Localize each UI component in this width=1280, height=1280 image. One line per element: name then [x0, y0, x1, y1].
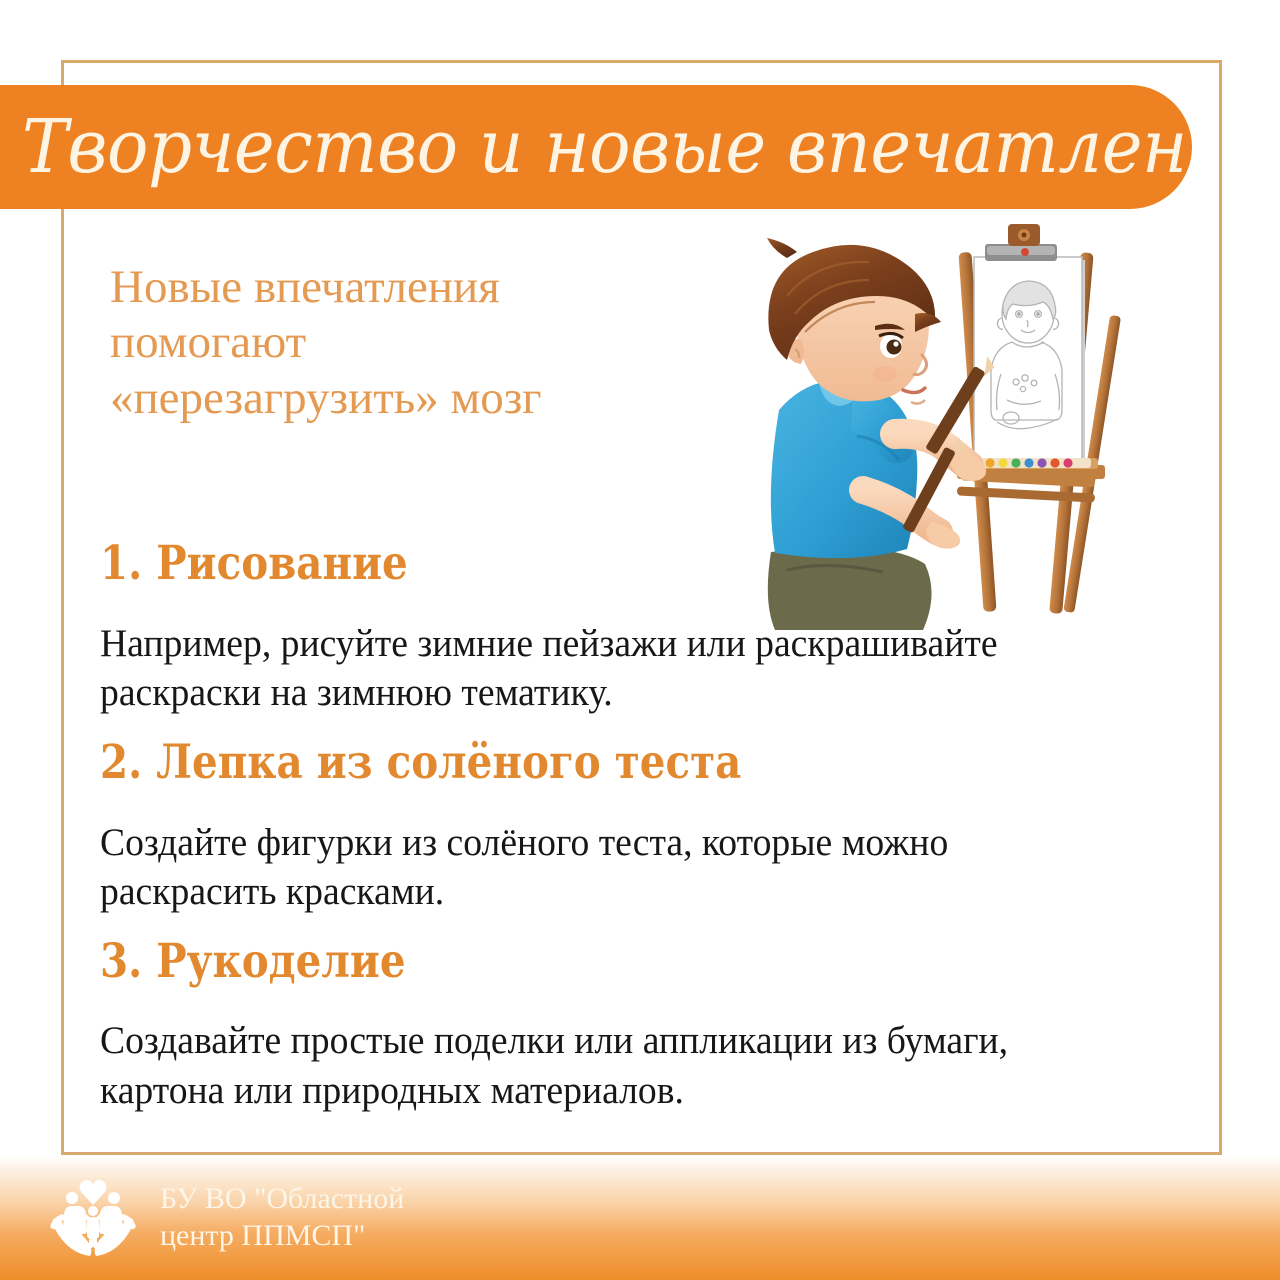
footer-org-line-2: центр ППМСП" — [160, 1218, 404, 1255]
page-title: Творчество и новые впечатления — [22, 110, 1192, 184]
footer-org-line-1: БУ ВО "Областной — [160, 1181, 404, 1218]
section-2-heading: 2. Лепка из солёного теста — [100, 737, 1059, 790]
section-1-body-line-1: Например, рисуйте зимние пейзажи или рас… — [100, 619, 1176, 668]
subtitle-line-3: «перезагрузить» мозг — [110, 371, 710, 426]
section-2: 2. Лепка из солёного теста Создайте фигу… — [100, 737, 1215, 916]
footer-organization-name: БУ ВО "Областной центр ППМСП" — [160, 1181, 404, 1254]
paint-palette — [967, 458, 1091, 468]
poster-canvas: Творчество и новые впечатления Новые впе… — [0, 0, 1280, 1280]
section-1: 1. Рисование Например, рисуйте зимние пе… — [100, 538, 1215, 717]
section-1-body-line-2: раскраски на зимнюю тематику. — [100, 668, 1176, 717]
section-3-body-line-1: Создавайте простые поделки или аппликаци… — [100, 1016, 1176, 1065]
section-1-body: Например, рисуйте зимние пейзажи или рас… — [100, 619, 1176, 717]
section-3-body: Создавайте простые поделки или аппликаци… — [100, 1016, 1176, 1114]
section-2-body: Создайте фигурки из солёного теста, кото… — [100, 818, 1176, 916]
content-sections: 1. Рисование Например, рисуйте зимние пе… — [100, 538, 1215, 1121]
subtitle-line-2: помогают — [110, 315, 710, 370]
subtitle-line-1: Новые впечатления — [110, 260, 710, 315]
section-3: 3. Рукоделие Создавайте простые поделки … — [100, 936, 1215, 1115]
subtitle-block: Новые впечатления помогают «перезагрузит… — [110, 260, 710, 426]
section-2-body-line-1: Создайте фигурки из солёного теста, кото… — [100, 818, 1176, 867]
section-1-heading: 1. Рисование — [100, 538, 1059, 591]
canvas-clip — [985, 224, 1057, 261]
footer-bar: БУ ВО "Областной центр ППМСП" — [0, 1155, 1280, 1280]
section-3-heading: 3. Рукоделие — [100, 936, 1059, 989]
title-banner: Творчество и новые впечатления — [0, 85, 1192, 209]
family-in-hands-logo — [50, 1178, 136, 1258]
section-3-body-line-2: картона или природных материалов. — [100, 1066, 1176, 1115]
section-2-body-line-2: раскрасить красками. — [100, 867, 1176, 916]
